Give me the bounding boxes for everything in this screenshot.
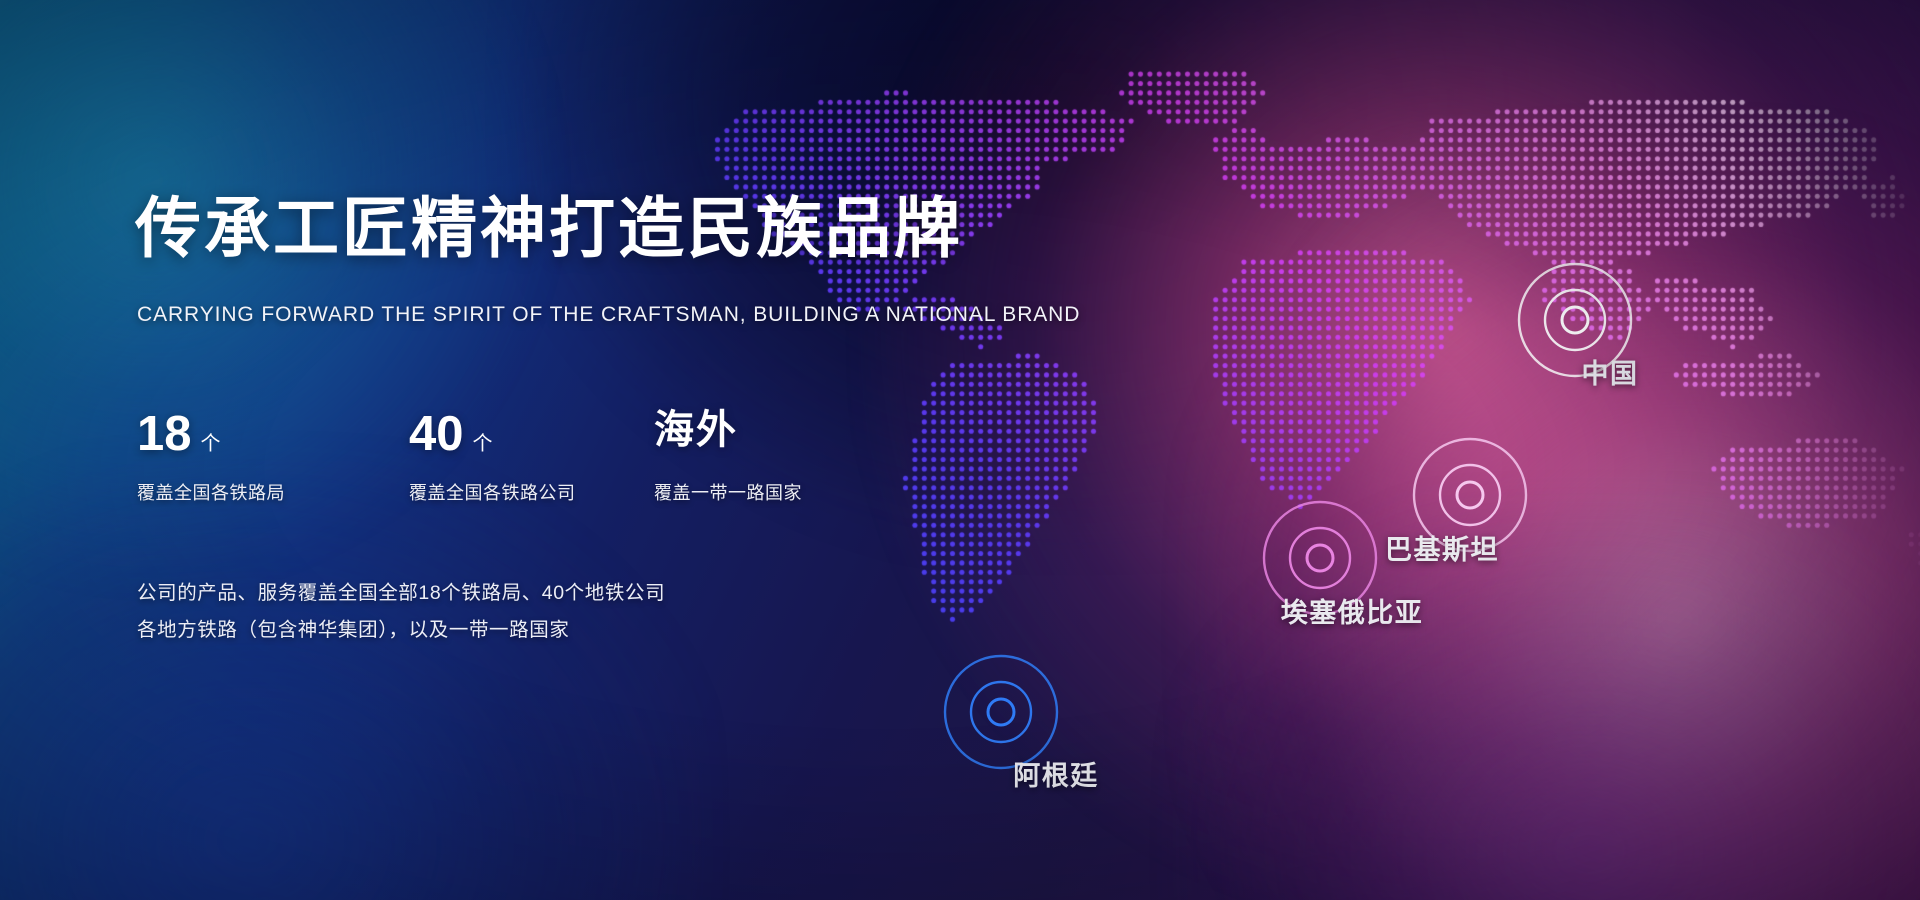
stat-description: 覆盖全国各铁路局 — [137, 479, 409, 505]
stat-unit: 个 — [473, 434, 493, 454]
stat-value: 海外 — [654, 410, 738, 450]
stat-description: 覆盖全国各铁路公司 — [409, 479, 654, 505]
page-title: 传承工匠精神打造民族品牌 — [135, 195, 963, 261]
description-paragraph: 公司的产品、服务覆盖全国全部18个铁路局、40个地铁公司 各地方铁路（包含神华集… — [137, 575, 665, 649]
stat-item-1: 18个覆盖全国各铁路局 — [137, 410, 409, 505]
page-subtitle: CARRYING FORWARD THE SPIRIT OF THE CRAFT… — [137, 303, 1080, 327]
stat-item-3: 海外覆盖一带一路国家 — [654, 410, 914, 505]
stat-value-row: 18个 — [137, 410, 409, 464]
description-line-1: 公司的产品、服务覆盖全国全部18个铁路局、40个地铁公司 — [137, 575, 665, 612]
stat-value: 40 — [409, 410, 464, 459]
content-block: 传承工匠精神打造民族品牌 CARRYING FORWARD THE SPIRIT… — [135, 0, 975, 900]
stat-value: 18 — [137, 410, 192, 459]
banner-stage: 中国巴基斯坦埃塞俄比亚阿根廷 传承工匠精神打造民族品牌 CARRYING FOR… — [0, 0, 1920, 900]
stats-group: 18个覆盖全国各铁路局40个覆盖全国各铁路公司海外覆盖一带一路国家 — [137, 410, 914, 505]
stat-item-2: 40个覆盖全国各铁路公司 — [409, 410, 654, 505]
stat-unit: 个 — [201, 434, 221, 454]
stat-value-row: 40个 — [409, 410, 654, 464]
stat-description: 覆盖一带一路国家 — [654, 479, 914, 505]
stat-value-row: 海外 — [654, 410, 914, 464]
description-line-2: 各地方铁路（包含神华集团），以及一带一路国家 — [137, 612, 665, 649]
